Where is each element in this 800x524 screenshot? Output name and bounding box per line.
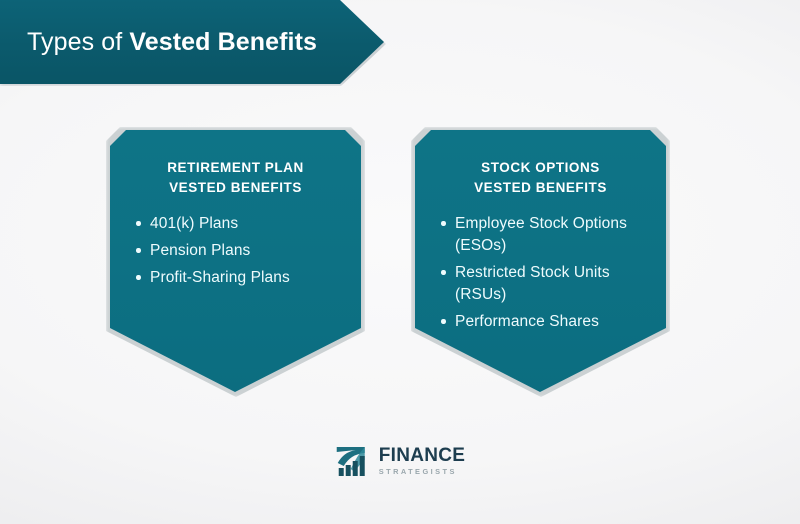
page-title-light: Types of bbox=[27, 28, 129, 56]
card-stock-options: STOCK OPTIONS VESTED BENEFITS Employee S… bbox=[415, 130, 666, 392]
logo-name: FINANCE bbox=[379, 446, 466, 465]
card-retirement-plan: RETIREMENT PLAN VESTED BENEFITS 401(k) P… bbox=[110, 130, 361, 392]
list-item: 401(k) Plans bbox=[136, 213, 349, 235]
card-heading-line2: VESTED BENEFITS bbox=[433, 178, 648, 198]
card-content: RETIREMENT PLAN VESTED BENEFITS 401(k) P… bbox=[110, 130, 361, 392]
card-heading-line2: VESTED BENEFITS bbox=[128, 178, 343, 198]
card-heading: STOCK OPTIONS VESTED BENEFITS bbox=[415, 130, 666, 197]
list-item: Performance Shares bbox=[441, 311, 654, 333]
page-title-bold: Vested Benefits bbox=[129, 28, 317, 56]
cards-container: RETIREMENT PLAN VESTED BENEFITS 401(k) P… bbox=[0, 130, 800, 395]
logo-wordmark: FINANCE STRATEGISTS bbox=[379, 446, 466, 475]
card-bullet-list: Employee Stock Options (ESOs) Restricted… bbox=[415, 213, 666, 333]
page-title: Types of Vested Benefits bbox=[27, 30, 317, 55]
card-heading-line1: STOCK OPTIONS bbox=[433, 158, 648, 178]
card-content: STOCK OPTIONS VESTED BENEFITS Employee S… bbox=[415, 130, 666, 392]
list-item: Employee Stock Options (ESOs) bbox=[441, 213, 654, 257]
card-bullet-list: 401(k) Plans Pension Plans Profit-Sharin… bbox=[110, 213, 361, 289]
header-banner: Types of Vested Benefits bbox=[0, 0, 384, 84]
card-heading-line1: RETIREMENT PLAN bbox=[128, 158, 343, 178]
list-item: Restricted Stock Units (RSUs) bbox=[441, 262, 654, 306]
logo-subtitle: STRATEGISTS bbox=[379, 468, 466, 475]
card-heading: RETIREMENT PLAN VESTED BENEFITS bbox=[110, 130, 361, 197]
infographic-canvas: Types of Vested Benefits RETIREMENT PLAN… bbox=[0, 0, 800, 524]
list-item: Profit-Sharing Plans bbox=[136, 267, 349, 289]
list-item: Pension Plans bbox=[136, 240, 349, 262]
finance-strategists-mark-icon bbox=[335, 444, 373, 478]
brand-logo: FINANCE STRATEGISTS bbox=[335, 444, 466, 478]
